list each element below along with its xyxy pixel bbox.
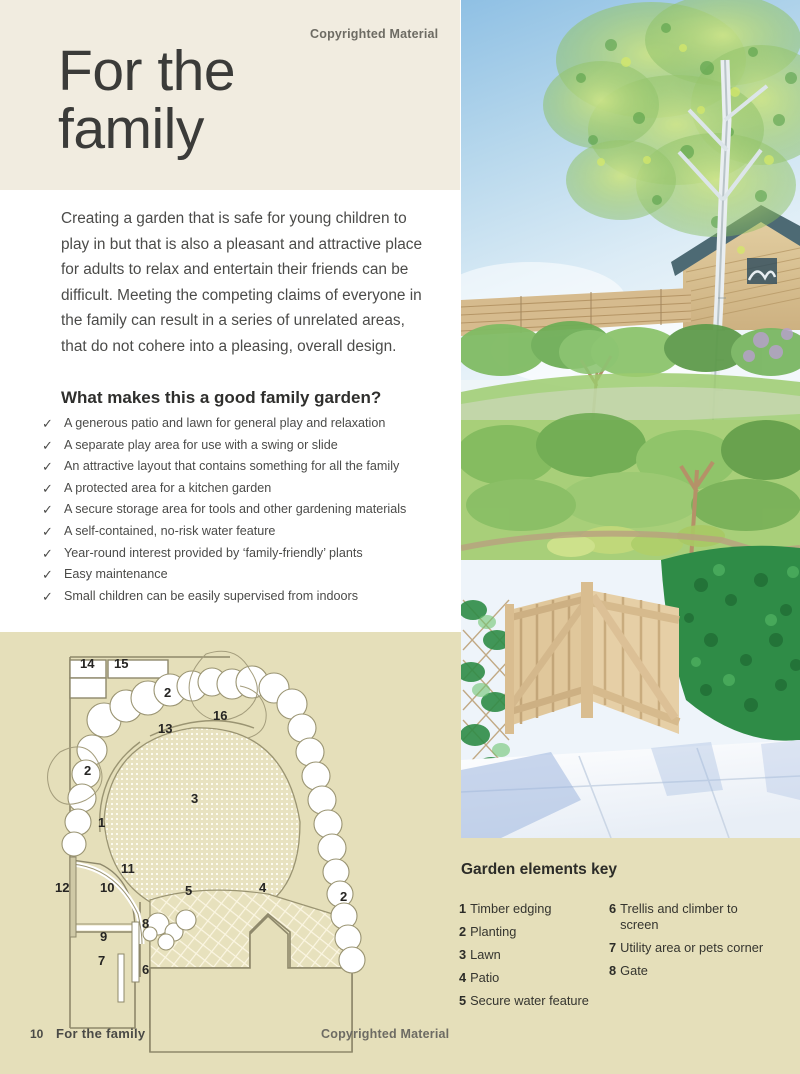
checklist-item-label: Easy maintenance <box>64 566 168 583</box>
plan-label-14: 14 <box>80 657 94 670</box>
checklist-item: ✓A secure storage area for tools and oth… <box>40 501 440 518</box>
plan-label-2: 2 <box>340 890 347 903</box>
key-item-label: Trellis and climber to screen <box>620 901 774 933</box>
check-icon: ✓ <box>40 588 64 605</box>
key-item-label: Gate <box>620 963 648 979</box>
plan-label-5: 5 <box>185 884 192 897</box>
key-item: 5Secure water feature <box>459 993 609 1009</box>
key-item-label: Planting <box>470 924 516 940</box>
check-icon: ✓ <box>40 566 64 583</box>
key-item-label: Patio <box>470 970 499 986</box>
key-column-left: 1Timber edging2Planting3Lawn4Patio5Secur… <box>459 901 609 1016</box>
page-title: For thefamily <box>58 42 418 158</box>
key-item: 4Patio <box>459 970 609 986</box>
checklist-item-label: A secure storage area for tools and othe… <box>64 501 406 518</box>
plan-label-3: 3 <box>191 792 198 805</box>
key-item-number: 3 <box>459 947 466 963</box>
key-column-right: 6Trellis and climber to screen7Utility a… <box>609 901 774 1016</box>
checklist-item: ✓Easy maintenance <box>40 566 440 583</box>
check-icon: ✓ <box>40 437 64 454</box>
key-item: 1Timber edging <box>459 901 609 917</box>
plan-label-15: 15 <box>114 657 128 670</box>
plan-label-12: 12 <box>55 881 69 894</box>
key-title: Garden elements key <box>461 861 617 879</box>
plan-label-10: 10 <box>100 881 114 894</box>
plan-label-7: 7 <box>98 954 105 967</box>
check-icon: ✓ <box>40 458 64 475</box>
checklist-item-label: A generous patio and lawn for general pl… <box>64 415 385 432</box>
key-item-label: Utility area or pets corner <box>620 940 763 956</box>
plan-label-8: 8 <box>142 917 149 930</box>
checklist-item: ✓An attractive layout that contains some… <box>40 458 440 475</box>
checklist-item: ✓A separate play area for use with a swi… <box>40 437 440 454</box>
key-item: 6Trellis and climber to screen <box>609 901 774 933</box>
key-item: 7Utility area or pets corner <box>609 940 774 956</box>
key-item-number: 4 <box>459 970 466 986</box>
checklist-item: ✓A generous patio and lawn for general p… <box>40 415 440 432</box>
key-item-label: Secure water feature <box>470 993 589 1009</box>
intro-paragraph: Creating a garden that is safe for young… <box>61 206 433 359</box>
checklist-item: ✓Year-round interest provided by ‘family… <box>40 545 440 562</box>
garden-plan-panel <box>0 632 461 1074</box>
plan-label-4: 4 <box>259 881 266 894</box>
key-item: 2Planting <box>459 924 609 940</box>
plan-label-11: 11 <box>121 862 135 875</box>
copyright-watermark-top: Copyrighted Material <box>310 27 438 41</box>
footer-page-number: 10 <box>30 1027 43 1041</box>
plan-label-1: 1 <box>98 816 105 829</box>
key-item: 8Gate <box>609 963 774 979</box>
checklist-item-label: A separate play area for use with a swin… <box>64 437 338 454</box>
checklist-item: ✓Small children can be easily supervised… <box>40 588 440 605</box>
key-item-number: 7 <box>609 940 616 956</box>
check-icon: ✓ <box>40 501 64 518</box>
check-icon: ✓ <box>40 523 64 540</box>
checklist-item-label: Small children can be easily supervised … <box>64 588 358 605</box>
book-page: For thefamily Copyrighted Material Creat… <box>0 0 800 1074</box>
checklist-item: ✓A protected area for a kitchen garden <box>40 480 440 497</box>
key-item-number: 6 <box>609 901 616 917</box>
checklist-item-label: Year-round interest provided by ‘family-… <box>64 545 363 562</box>
page-title-line-1: For the <box>58 42 418 100</box>
key-item-number: 5 <box>459 993 466 1009</box>
key-item-label: Lawn <box>470 947 501 963</box>
footer-chapter-title: For the family <box>56 1026 145 1041</box>
plan-label-9: 9 <box>100 930 107 943</box>
checklist-heading: What makes this a good family garden? <box>61 388 381 408</box>
copyright-watermark-bottom: Copyrighted Material <box>321 1027 449 1041</box>
checklist-item: ✓A self-contained, no-risk water feature <box>40 523 440 540</box>
check-icon: ✓ <box>40 480 64 497</box>
page-title-line-2: family <box>58 100 418 158</box>
key-item: 3Lawn <box>459 947 609 963</box>
key-item-number: 8 <box>609 963 616 979</box>
plan-label-16: 16 <box>213 709 227 722</box>
plan-label-2: 2 <box>84 764 91 777</box>
key-item-number: 2 <box>459 924 466 940</box>
garden-illustration <box>461 0 800 838</box>
plan-label-13: 13 <box>158 722 172 735</box>
checklist-item-label: A protected area for a kitchen garden <box>64 480 271 497</box>
checklist-item-label: A self-contained, no-risk water feature <box>64 523 275 540</box>
key-item-label: Timber edging <box>470 901 551 917</box>
checklist-item-label: An attractive layout that contains somet… <box>64 458 399 475</box>
check-icon: ✓ <box>40 415 64 432</box>
plan-label-2: 2 <box>164 686 171 699</box>
plan-label-6: 6 <box>142 963 149 976</box>
key-columns: 1Timber edging2Planting3Lawn4Patio5Secur… <box>459 901 789 1016</box>
key-item-number: 1 <box>459 901 466 917</box>
check-icon: ✓ <box>40 545 64 562</box>
checklist: ✓A generous patio and lawn for general p… <box>40 415 440 609</box>
